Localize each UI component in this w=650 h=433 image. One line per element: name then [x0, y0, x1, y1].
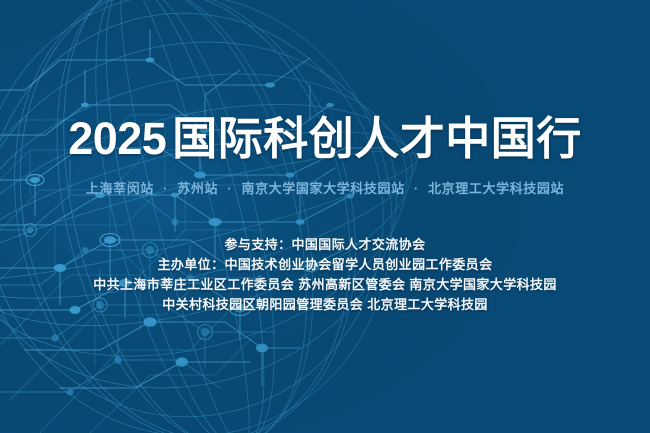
poster-banner: 2025国际科创人才中国行 上海莘闵站 · 苏州站 · 南京大学国家大学科技园站…: [0, 0, 650, 433]
subtitle-separator-icon: ·: [409, 181, 424, 196]
credits-block: 参与支持：中国国际人才交流协会 主办单位：中国技术创业协会留学人员创业园工作委员…: [0, 235, 650, 315]
credit-line-cohosts-1: 中共上海市莘庄工业区工作委员会 苏州高新区管委会 南京大学国家大学科技园: [0, 275, 650, 295]
subtitle-stop-list: 上海莘闵站 · 苏州站 · 南京大学国家大学科技园站 · 北京理工大学科技园站: [0, 178, 650, 197]
subtitle-stop: 上海莘闵站: [86, 181, 154, 196]
credit-line-organizer: 主办单位：中国技术创业协会留学人员创业园工作委员会: [0, 255, 650, 275]
credit-line-cohosts-2: 中关村科技园区朝阳园管理委员会 北京理工大学科技园: [0, 295, 650, 315]
subtitle-stop: 北京理工大学科技园站: [428, 181, 564, 196]
page-title: 2025国际科创人才中国行: [0, 116, 650, 161]
subtitle-separator-icon: ·: [158, 181, 173, 196]
subtitle-stop: 苏州站: [177, 181, 218, 196]
title-main: 国际科创人才中国行: [172, 113, 582, 164]
title-year: 2025: [68, 113, 166, 164]
subtitle-separator-icon: ·: [222, 181, 237, 196]
credit-line-support: 参与支持：中国国际人才交流协会: [0, 235, 650, 255]
subtitle-stop: 南京大学国家大学科技园站: [241, 181, 404, 196]
